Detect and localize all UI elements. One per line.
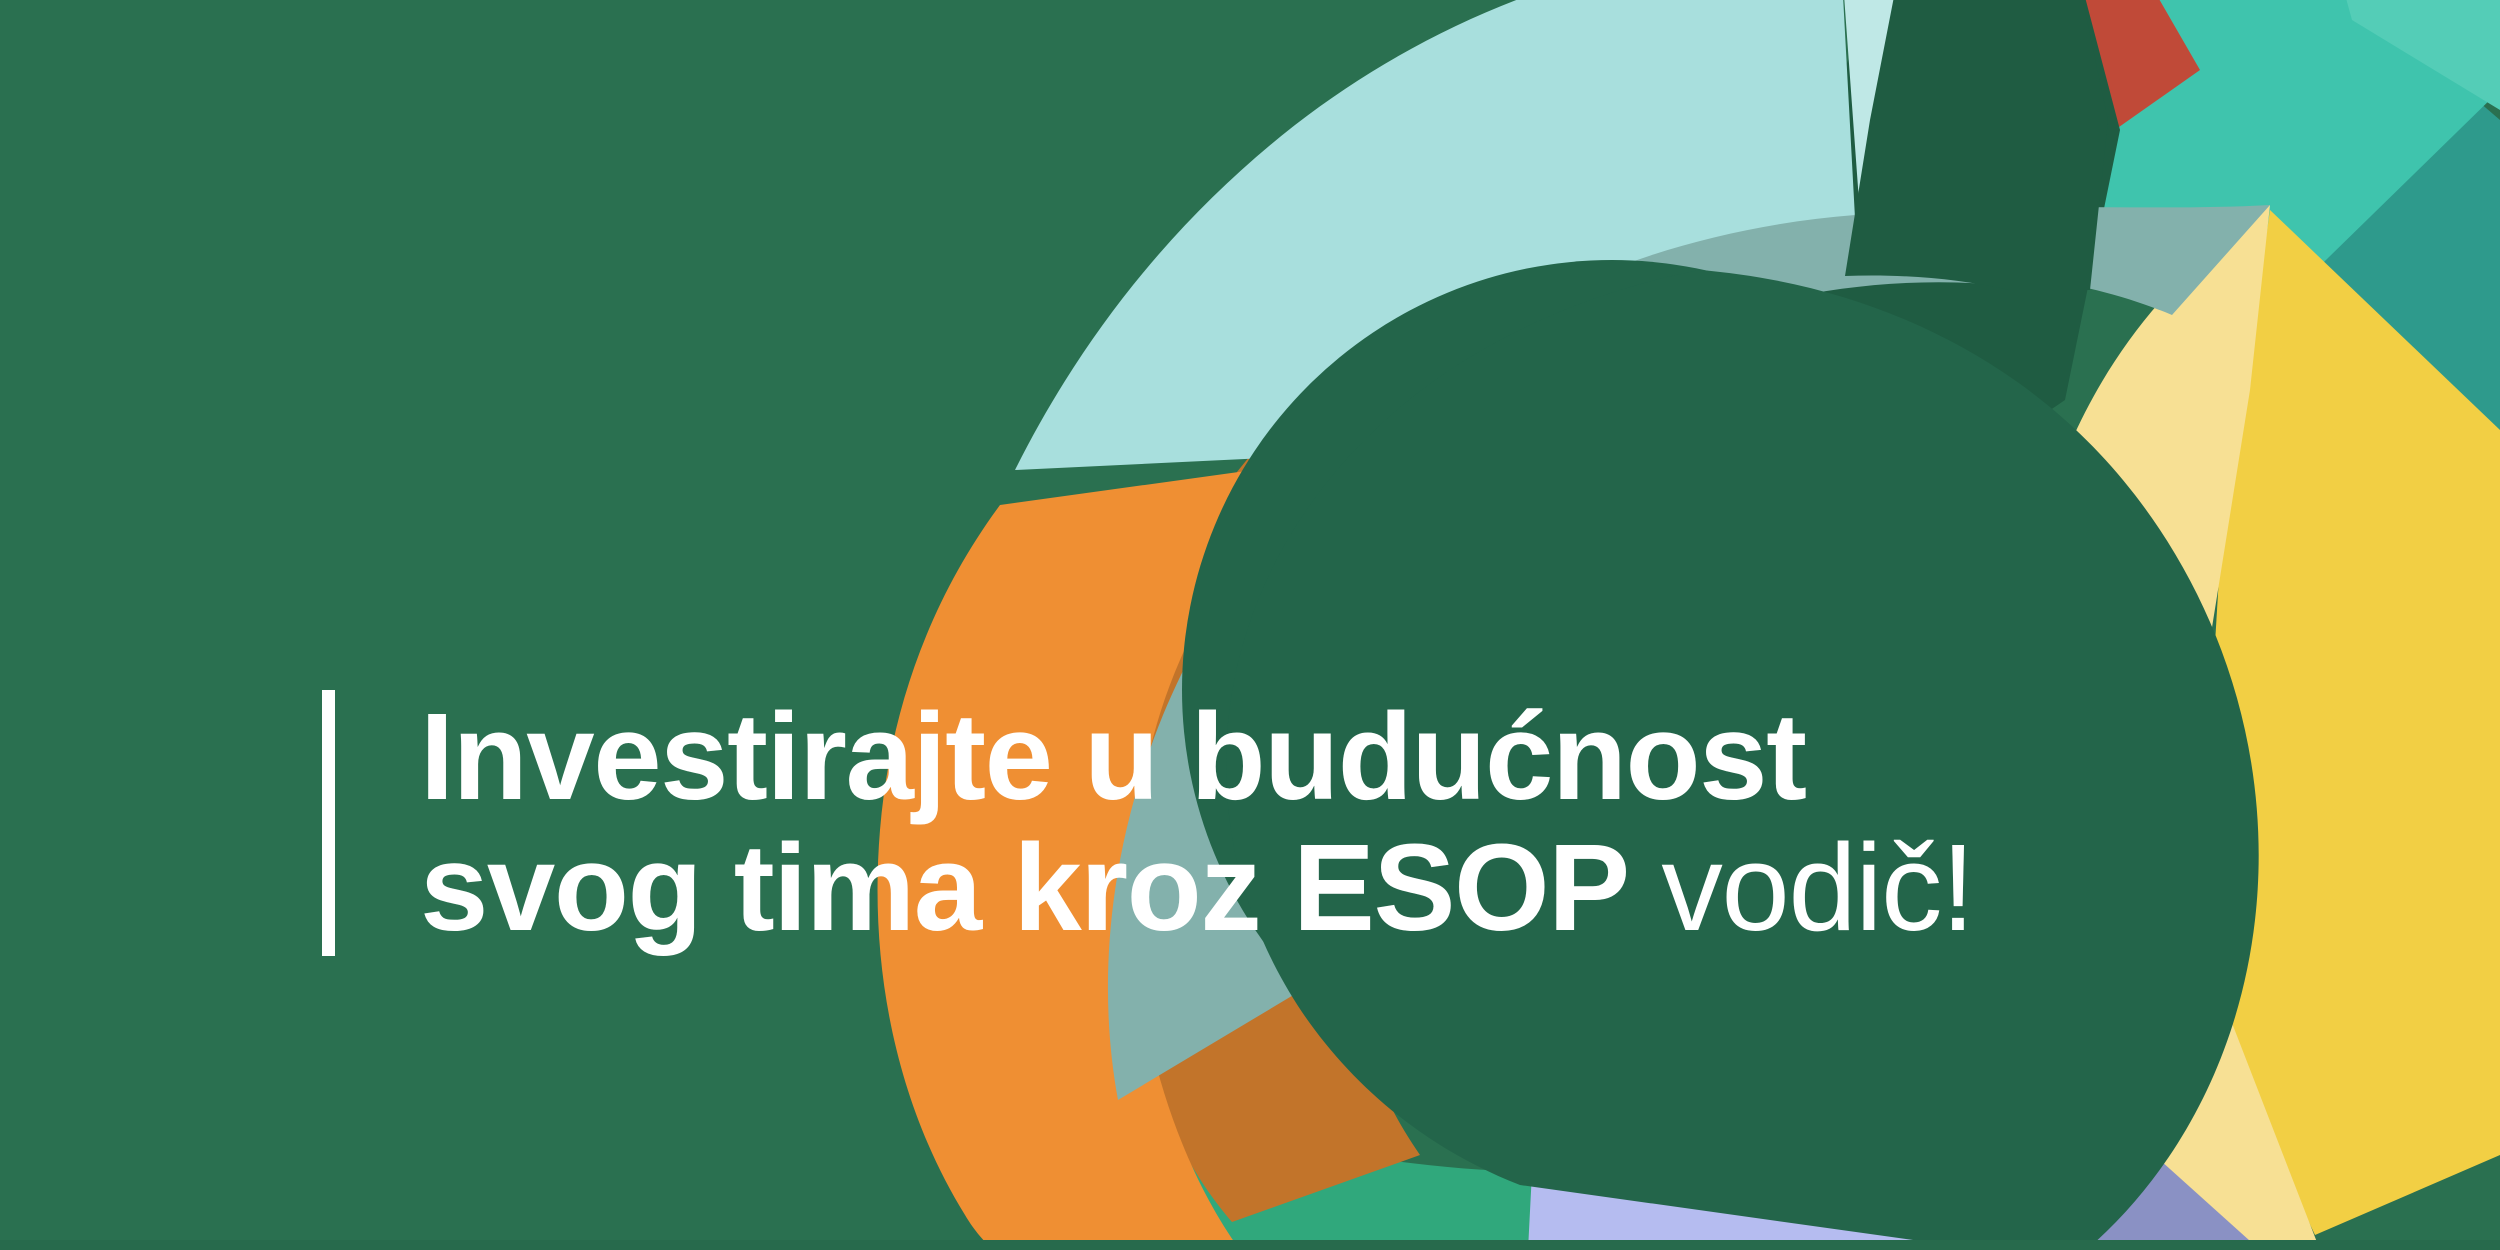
headline-text: Investirajte u budućnost svog tima kroz … (420, 690, 1974, 956)
headline-block: Investirajte u budućnost svog tima kroz … (322, 690, 1974, 956)
donut-chart-illustration (0, 0, 2500, 1250)
accent-bar (322, 690, 335, 956)
headline-line-2: svog tima kroz ESOP vodič! (420, 823, 1974, 954)
bottom-shadow-strip (0, 1240, 2500, 1250)
headline-line-1: Investirajte u budućnost (420, 692, 1974, 823)
marketing-banner: Investirajte u budućnost svog tima kroz … (0, 0, 2500, 1250)
headline-line-2-light-text: vodič! (1661, 820, 1973, 957)
headline-line-1-text: Investirajte u budućnost (420, 689, 1806, 826)
headline-line-2-strong-text: svog tima kroz ESOP (420, 820, 1629, 957)
